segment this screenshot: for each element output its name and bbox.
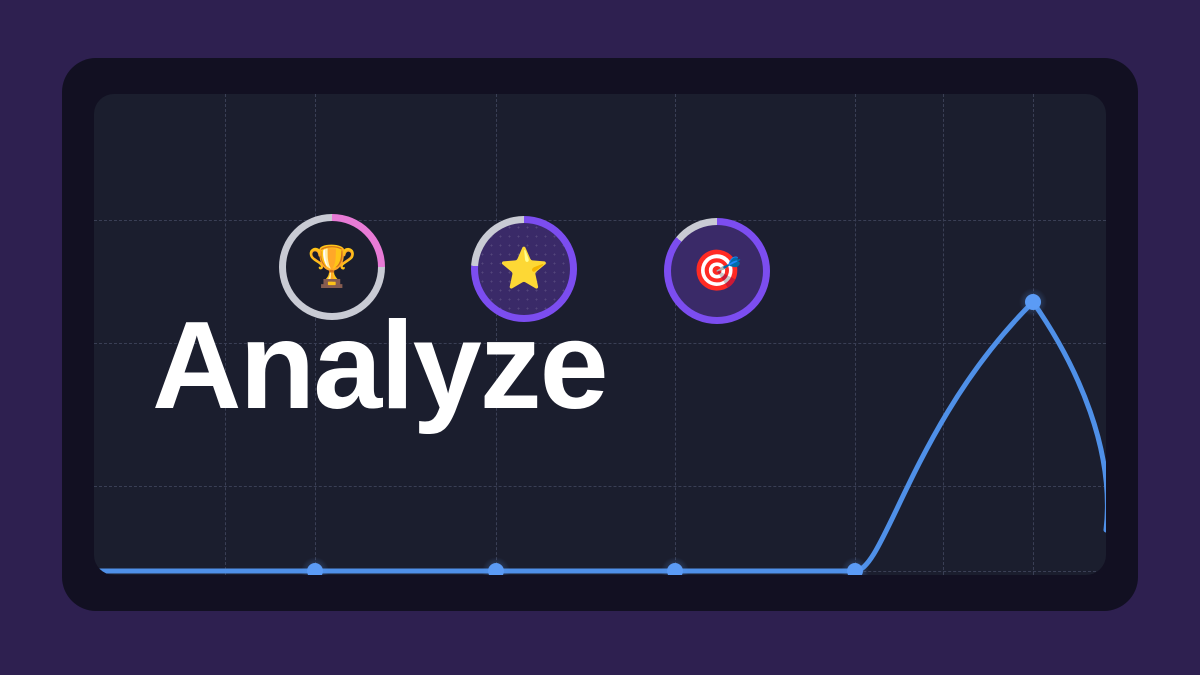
target-dart-icon: 🎯 [692,251,742,291]
data-point[interactable] [1025,294,1041,310]
trophy-icon: 🏆 [307,247,357,287]
page-title: Analyze [152,304,607,428]
chart-panel: 🏆⭐🎯 Analyze 27 Apr28 Apr29 Apr30 AprMay [94,94,1106,575]
star-icon: ⭐ [499,249,549,289]
outer-card: 🏆⭐🎯 Analyze 27 Apr28 Apr29 Apr30 AprMay [62,58,1138,611]
progress-badge-target[interactable]: 🎯 [664,218,770,324]
